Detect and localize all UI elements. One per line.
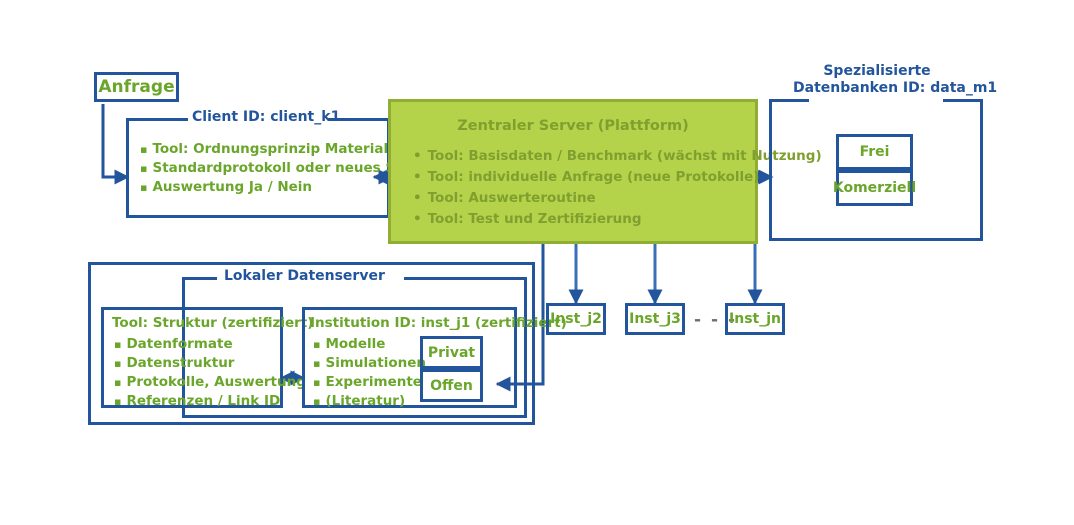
list-item: Experimente bbox=[313, 373, 426, 392]
databases-border-left bbox=[769, 99, 772, 241]
list-item: Tool: Test und Zertifizierung bbox=[413, 209, 822, 230]
anfrage-box[interactable]: Anfrage bbox=[94, 72, 179, 102]
list-item: Datenstruktur bbox=[114, 354, 306, 373]
list-item: Modelle bbox=[313, 335, 426, 354]
zentraler-server-box[interactable]: Zentraler Server (Plattform) Tool: Basis… bbox=[388, 99, 758, 244]
client-group: Client ID: client_k1 Tool: Ordnungsprinz… bbox=[126, 118, 390, 218]
instance-box-jn[interactable]: Inst_jn bbox=[725, 303, 785, 335]
client-border-top-left bbox=[126, 118, 188, 121]
client-title: Client ID: client_k1 bbox=[192, 109, 340, 125]
db-option-komerziell[interactable]: Komerziell bbox=[836, 170, 913, 206]
local-border-right bbox=[524, 277, 527, 418]
local-datenserver-title: Lokaler Datenserver bbox=[224, 268, 385, 284]
diagram-canvas: Anfrage Client ID: client_k1 Tool: Ordnu… bbox=[0, 0, 1074, 525]
server-item-list: Tool: Basisdaten / Benchmark (wächst mit… bbox=[413, 146, 822, 230]
databases-border-right bbox=[980, 99, 983, 241]
list-item: Protokolle, Auswertung bbox=[114, 373, 306, 392]
client-border-left bbox=[126, 118, 129, 218]
databases-group: Spezialisierte Datenbanken ID: data_m1 F… bbox=[769, 99, 983, 241]
local-border-bottom bbox=[182, 415, 527, 418]
databases-title-line2: Datenbanken ID: data_m1 bbox=[793, 80, 961, 97]
local-border-top-right bbox=[404, 277, 527, 280]
list-item: Tool: Auswerteroutine bbox=[413, 188, 822, 209]
server-title: Zentraler Server (Plattform) bbox=[391, 118, 755, 134]
instance-box-j3[interactable]: Inst_j3 bbox=[625, 303, 685, 335]
institution-access-offen[interactable]: Offen bbox=[420, 369, 483, 402]
institution-box[interactable]: Institution ID: inst_j1 (zertifiziert) M… bbox=[302, 307, 517, 408]
tool-struktur-title: Tool: Struktur (zertifiziert) bbox=[112, 315, 313, 331]
list-item: Tool: Basisdaten / Benchmark (wächst mit… bbox=[413, 146, 822, 167]
databases-border-bottom bbox=[769, 238, 983, 241]
databases-title-line1: Spezialisierte bbox=[815, 63, 939, 80]
list-item: Referenzen / Link ID bbox=[114, 392, 306, 411]
arrow-anfrage-to-client bbox=[103, 104, 128, 177]
list-item: (Literatur) bbox=[313, 392, 426, 411]
databases-border-top-right bbox=[943, 99, 983, 102]
tool-struktur-item-list: Datenformate Datenstruktur Protokolle, A… bbox=[114, 335, 306, 411]
institution-title: Institution ID: inst_j1 (zertifiziert) bbox=[310, 315, 567, 331]
local-border-top-left bbox=[182, 277, 217, 280]
list-item: Simulationen bbox=[313, 354, 426, 373]
anfrage-label: Anfrage bbox=[97, 75, 176, 99]
instance-box-j2[interactable]: Inst_j2 bbox=[546, 303, 606, 335]
list-item: Tool: individuelle Anfrage (neue Protoko… bbox=[413, 167, 822, 188]
institution-item-list: Modelle Simulationen Experimente (Litera… bbox=[313, 335, 426, 411]
tool-struktur-box[interactable]: Tool: Struktur (zertifiziert) Datenforma… bbox=[101, 307, 283, 408]
databases-border-top-left bbox=[769, 99, 809, 102]
db-option-frei[interactable]: Frei bbox=[836, 134, 913, 170]
client-border-bottom bbox=[126, 215, 390, 218]
list-item: Datenformate bbox=[114, 335, 306, 354]
institution-access-privat[interactable]: Privat bbox=[420, 336, 483, 369]
